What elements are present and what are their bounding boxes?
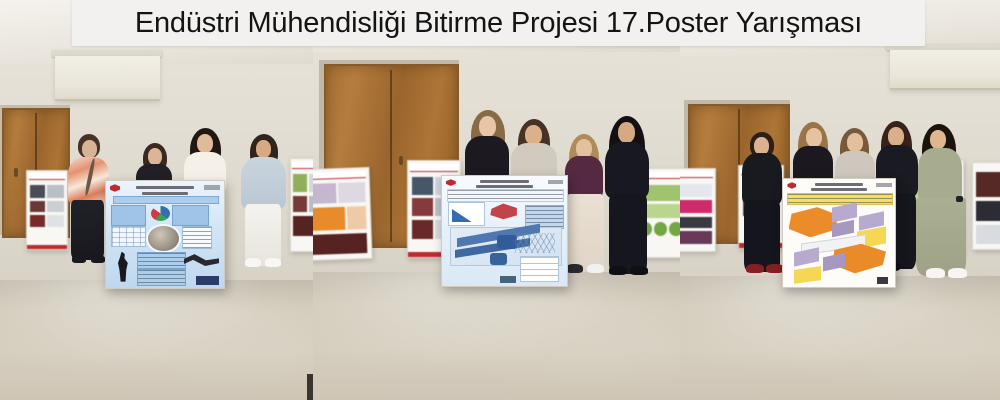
shoe <box>609 266 627 275</box>
poster-3d-machine <box>487 202 520 220</box>
room-scene-middle <box>313 0 680 400</box>
floor-right <box>680 276 1000 400</box>
head <box>256 140 271 158</box>
poster-image-cell <box>680 231 712 244</box>
poster-section-right <box>172 205 209 226</box>
poster-warehouse-zone <box>789 207 838 237</box>
collage-panel-middle <box>313 0 680 400</box>
poster-image-cell <box>293 216 313 236</box>
collage-panel-right <box>680 0 1000 400</box>
poster-zone-yellow <box>794 266 821 284</box>
floor-left <box>0 280 313 400</box>
poster-image-cell <box>47 185 64 197</box>
poster-header <box>292 162 313 169</box>
poster-image-cell <box>654 222 668 236</box>
poster-image-cell <box>976 201 1000 222</box>
background-poster-middle-1 <box>313 167 373 261</box>
head <box>618 122 635 143</box>
shoe <box>245 258 261 267</box>
project-poster-left <box>105 180 225 289</box>
poster-footer-badge <box>500 276 516 283</box>
background-poster-left-1 <box>26 170 68 250</box>
room-scene-right <box>680 0 1000 400</box>
door-knob-middle <box>399 156 403 165</box>
poster-image-cell <box>976 172 1000 198</box>
poster-image-cell <box>30 215 44 227</box>
head <box>930 130 946 149</box>
poster-text-lines <box>788 194 891 204</box>
poster-layout-machine <box>490 253 508 265</box>
background-poster-right-4 <box>972 162 1000 250</box>
poster-image-cell <box>293 196 307 213</box>
poster-title <box>113 184 217 194</box>
poster-image-cell <box>976 225 1000 244</box>
poster-header <box>313 171 366 180</box>
wristwatch-icon <box>956 196 963 202</box>
poster-section-left <box>111 205 146 226</box>
projection-screen-right <box>890 50 1000 90</box>
head <box>847 133 863 152</box>
poster-silhouette-icon <box>113 252 132 282</box>
project-poster-right <box>782 178 896 288</box>
torso <box>742 153 782 205</box>
poster-text-lines <box>138 270 185 285</box>
poster-image-cell <box>680 217 712 228</box>
poster-header <box>29 173 66 179</box>
torso <box>605 142 649 198</box>
poster-title <box>450 179 560 187</box>
legs <box>609 194 647 274</box>
poster-photo-circle <box>146 224 181 254</box>
poster-section-abstract <box>113 196 219 204</box>
poster-title <box>790 182 889 190</box>
head <box>82 140 97 158</box>
poster-section-conclusion <box>137 269 186 286</box>
legs <box>71 200 104 260</box>
poster-competition-collage: Endüstri Mühendisliği Bitirme Projesi 17… <box>0 0 1000 400</box>
poster-section-abstract <box>447 189 564 202</box>
poster-image-cell <box>313 183 336 204</box>
collage-panel-left <box>0 0 313 400</box>
head <box>888 127 904 146</box>
poster-footer-badge <box>196 276 220 285</box>
poster-text-lines <box>183 227 211 248</box>
legs <box>916 198 966 276</box>
poster-image-cell <box>47 201 64 212</box>
legs <box>566 194 604 272</box>
poster-image-cell <box>412 198 433 215</box>
poster-image-cell <box>30 185 44 197</box>
shoe <box>587 264 604 273</box>
poster-shelf-group <box>832 220 854 238</box>
shoe <box>746 264 764 273</box>
torso <box>565 156 603 198</box>
poster-text-lines <box>448 190 563 201</box>
shoe <box>948 268 967 278</box>
poster-header <box>680 171 713 178</box>
poster-image-cell <box>30 201 44 212</box>
shoe <box>91 255 105 263</box>
title-banner: Endüstri Mühendisliği Bitirme Projesi 17… <box>72 0 925 46</box>
page-title: Endüstri Mühendisliği Bitirme Projesi 17… <box>135 9 862 38</box>
poster-image-cell <box>680 184 712 197</box>
shoe <box>265 258 281 267</box>
background-poster-left-2 <box>290 158 313 252</box>
poster-image-cell <box>680 200 712 213</box>
poster-section-results <box>137 252 186 269</box>
torso <box>241 157 286 209</box>
poster-data-table <box>520 256 560 282</box>
background-poster-right-1 <box>680 168 716 252</box>
legs <box>245 204 281 266</box>
poster-table <box>111 226 146 247</box>
poster-image-cell <box>412 220 433 239</box>
poster-diagram-arm <box>184 249 219 273</box>
project-poster-middle <box>441 175 568 287</box>
poster-image-cell <box>347 206 367 230</box>
poster-footer-bar <box>27 245 67 249</box>
poster-footer-badge <box>877 277 888 283</box>
room-scene-left <box>0 0 313 400</box>
head <box>806 128 822 147</box>
poster-image-cell <box>293 174 307 192</box>
shoe <box>72 255 86 263</box>
floor-middle <box>313 272 680 400</box>
shoe <box>926 268 945 278</box>
poster-shelf-group <box>794 248 819 267</box>
poster-image-cell <box>338 182 366 203</box>
shoe <box>566 264 583 273</box>
poster-section-abstract <box>787 193 892 205</box>
poster-pie-chart <box>151 206 170 221</box>
poster-image-cell <box>313 233 368 255</box>
poster-layout-grid <box>515 233 555 253</box>
poster-image-cell <box>412 177 433 194</box>
poster-header <box>410 164 458 172</box>
poster-list <box>182 226 212 249</box>
poster-text-lines <box>138 253 185 268</box>
poster-image-cell <box>47 215 64 227</box>
head <box>148 148 162 165</box>
head <box>197 134 213 153</box>
head <box>525 125 542 145</box>
torso <box>918 148 962 202</box>
head <box>479 116 496 137</box>
legs <box>744 200 780 272</box>
poster-image-cell <box>313 207 346 232</box>
door-knob-left <box>14 168 18 177</box>
shoe <box>630 266 648 275</box>
projection-screen-left <box>55 56 160 101</box>
photo-collage <box>0 0 1000 400</box>
